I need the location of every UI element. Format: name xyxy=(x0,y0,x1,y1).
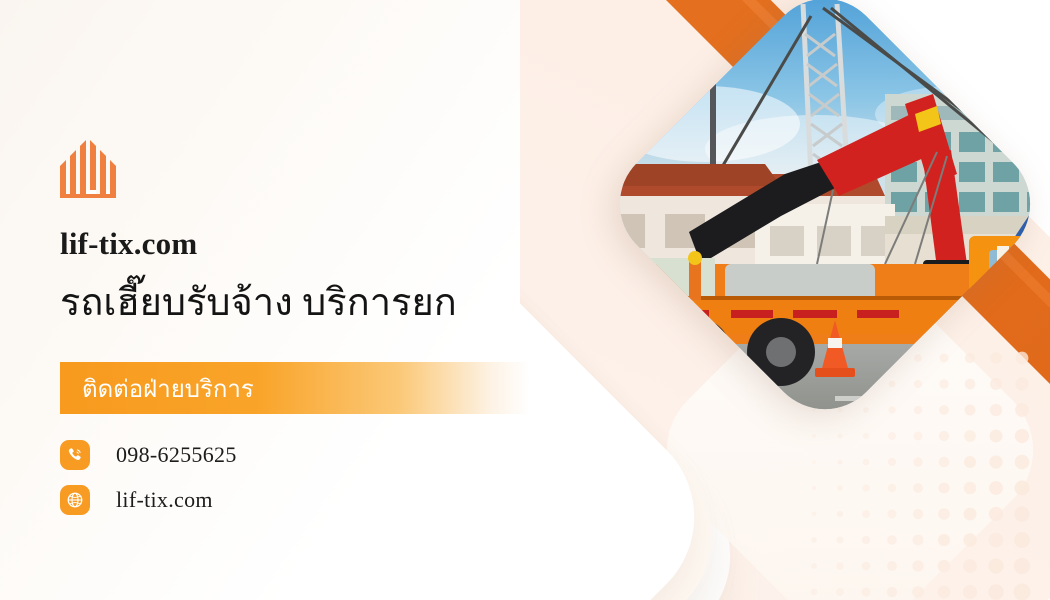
contact-row-website[interactable]: lif-tix.com xyxy=(60,477,237,522)
website-url: lif-tix.com xyxy=(116,487,213,513)
promotional-banner: lif-tix.com รถเฮี๊ยบรับจ้าง บริการยก ติด… xyxy=(0,0,1050,600)
contact-service-label: ติดต่อฝ่ายบริการ xyxy=(60,369,254,408)
phone-icon xyxy=(60,440,90,470)
contact-row-phone[interactable]: 098-6255625 xyxy=(60,432,237,477)
headline: รถเฮี๊ยบรับจ้าง บริการยก xyxy=(60,281,457,326)
contact-service-banner[interactable]: ติดต่อฝ่ายบริการ xyxy=(60,362,530,414)
globe-icon xyxy=(60,485,90,515)
brand-name: lif-tix.com xyxy=(60,226,197,262)
phone-number: 098-6255625 xyxy=(116,442,237,468)
building-logo-icon xyxy=(60,138,124,198)
contact-list: 098-6255625 lif-tix.com xyxy=(60,432,237,522)
content-column: lif-tix.com รถเฮี๊ยบรับจ้าง บริการยก ติด… xyxy=(60,0,620,600)
